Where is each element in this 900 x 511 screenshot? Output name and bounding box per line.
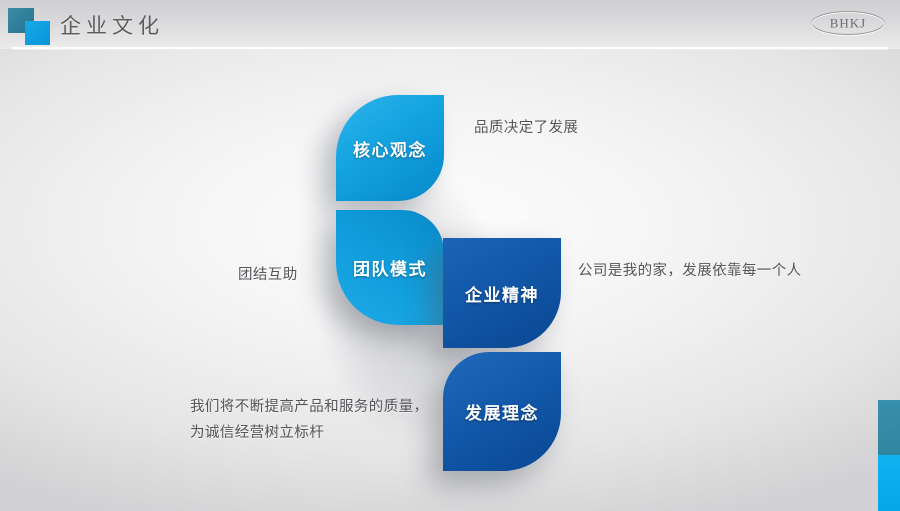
petal-team-mode-label: 团队模式 <box>353 255 427 280</box>
edge-accent-bar-teal <box>878 400 900 455</box>
slide-canvas: 企业文化 BHKJ 核心观念 团队模式 企业精神 发展理念 品质决定了发展 团结… <box>0 0 900 511</box>
petal-core-concept[interactable]: 核心观念 <box>336 95 444 201</box>
page-title: 企业文化 <box>60 10 164 40</box>
caption-improve: 我们将不断提高产品和服务的质量，为诚信经营树立标杆 <box>190 394 440 446</box>
header-divider <box>12 47 888 50</box>
petal-development-idea-label: 发展理念 <box>465 399 539 424</box>
edge-accent-bar-cyan <box>878 455 900 511</box>
badge-ellipse-icon: BHKJ <box>810 9 886 37</box>
petal-enterprise-spirit[interactable]: 企业精神 <box>443 238 561 348</box>
logo-square-bright-icon <box>25 21 50 45</box>
slide-header: 企业文化 <box>0 0 900 49</box>
petal-development-idea[interactable]: 发展理念 <box>443 352 561 471</box>
company-badge: BHKJ <box>810 9 886 37</box>
petal-core-concept-label: 核心观念 <box>353 136 427 161</box>
caption-quality: 品质决定了发展 <box>474 115 578 141</box>
caption-unity: 团结互助 <box>238 262 298 288</box>
caption-family: 公司是我的家，发展依靠每一个人 <box>578 258 802 284</box>
badge-text: BHKJ <box>830 16 867 31</box>
petal-enterprise-spirit-label: 企业精神 <box>465 281 539 306</box>
